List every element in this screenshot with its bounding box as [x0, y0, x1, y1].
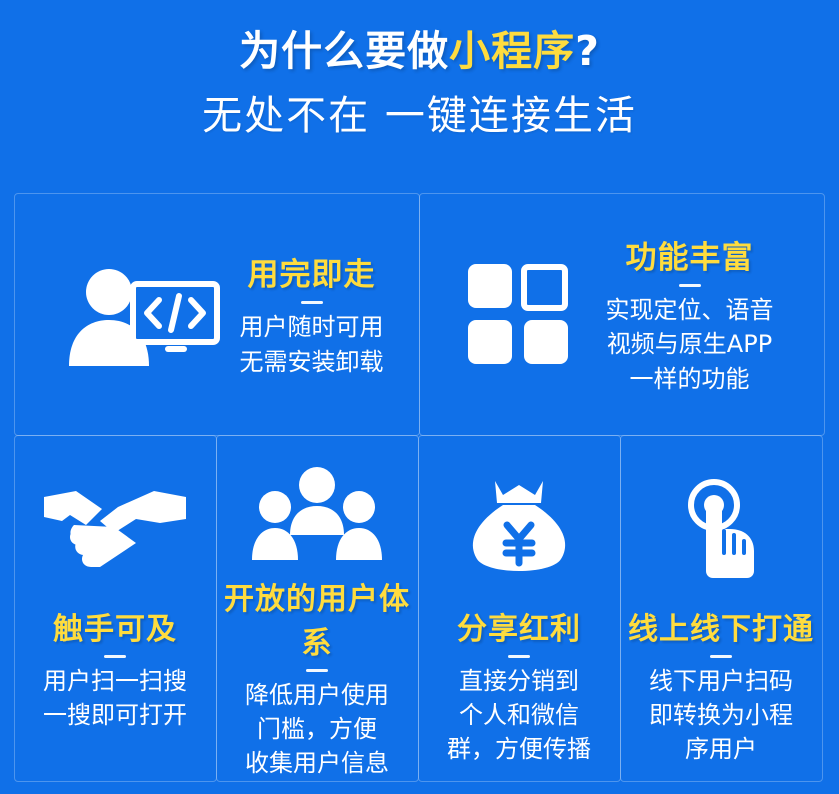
feature-grid: 用完即走 用户随时可用 无需安装卸载: [14, 193, 826, 781]
feature-card-heading: 开放的用户体系: [223, 574, 412, 662]
feature-card-chu-shou-ke-ji[interactable]: 触手可及 用户扫一扫搜 一搜即可打开: [14, 435, 217, 782]
feature-card-body: 直接分销到 个人和微信 群，方便传播: [447, 664, 591, 766]
feature-card-heading: 触手可及: [43, 604, 187, 648]
feature-card-line: 降低用户使用: [223, 678, 412, 712]
feature-card-body: 降低用户使用 门槛，方便 收集用户信息: [223, 678, 412, 780]
feature-card-line: 直接分销到: [447, 664, 591, 698]
feature-card-line: 门槛，方便: [223, 712, 412, 746]
feature-card-line: 收集用户信息: [223, 746, 412, 780]
feature-card-body: 用户扫一扫搜 一搜即可打开: [43, 664, 187, 732]
feature-card-line: 视频与原生APP: [578, 327, 802, 361]
header: 为什么要做小程序? 无处不在 一键连接生活: [0, 0, 839, 141]
divider-rule: [679, 284, 701, 287]
feature-card-line: 无需安装卸载: [227, 345, 397, 379]
divider-rule: [104, 655, 126, 658]
feature-card-line: 实现定位、语音: [578, 293, 802, 327]
divider-rule: [508, 655, 530, 658]
feature-card-fen-xiang-hong-li[interactable]: 分享红利 直接分销到 个人和微信 群，方便传播: [418, 435, 621, 782]
feature-card-kai-fang-de-yong-hu-ti-xi[interactable]: 开放的用户体系 降低用户使用 门槛，方便 收集用户信息: [216, 435, 419, 782]
tap-hand-icon: [666, 454, 776, 604]
divider-rule: [301, 301, 323, 304]
title-text-part-1: 为什么要做: [239, 27, 449, 75]
feature-card-line: 线下用户扫码: [628, 664, 814, 698]
title-text-part-2: ?: [575, 27, 600, 75]
feature-card-body: 线下用户扫码 即转换为小程 序用户: [628, 664, 814, 766]
feature-card-line: 一样的功能: [578, 362, 802, 396]
feature-row-bottom: 触手可及 用户扫一扫搜 一搜即可打开: [14, 435, 826, 781]
feature-card-line: 序用户: [628, 732, 814, 766]
feature-row-top: 用完即走 用户随时可用 无需安装卸载: [14, 193, 826, 435]
feature-card-yong-wan-ji-zou[interactable]: 用完即走 用户随时可用 无需安装卸载: [14, 193, 420, 436]
feature-card-xian-shang-xian-xia-da-tong[interactable]: 线上线下打通 线下用户扫码 即转换为小程 序用户: [620, 435, 823, 782]
feature-card-line: 即转换为小程: [628, 698, 814, 732]
feature-card-line: 用户扫一扫搜: [43, 664, 187, 698]
page-title: 为什么要做小程序?: [0, 26, 839, 77]
feature-card-gong-neng-feng-fu[interactable]: 功能丰富 实现定位、语音 视频与原生APP 一样的功能: [419, 193, 825, 436]
feature-card-text: 开放的用户体系 降低用户使用 门槛，方便 收集用户信息: [217, 574, 418, 780]
feature-card-text: 分享红利 直接分销到 个人和微信 群，方便传播: [441, 604, 597, 766]
feature-card-text: 触手可及 用户扫一扫搜 一搜即可打开: [37, 604, 193, 732]
feature-card-body: 用户随时可用 无需安装卸载: [227, 310, 397, 378]
feature-card-line: 群，方便传播: [447, 732, 591, 766]
feature-card-text: 功能丰富 实现定位、语音 视频与原生APP 一样的功能: [578, 232, 824, 395]
feature-card-text: 用完即走 用户随时可用 无需安装卸载: [227, 249, 419, 378]
handshake-icon: [40, 454, 190, 604]
grid-squares-icon: [458, 262, 578, 366]
feature-card-heading: 功能丰富: [578, 232, 802, 277]
page-subtitle: 无处不在 一键连接生活: [0, 91, 839, 141]
feature-card-heading: 线上线下打通: [628, 604, 814, 648]
feature-card-line: 一搜即可打开: [43, 698, 187, 732]
feature-card-line: 个人和微信: [447, 698, 591, 732]
feature-card-heading: 用完即走: [227, 249, 397, 294]
divider-rule: [306, 669, 328, 672]
title-highlight: 小程序: [449, 27, 575, 75]
poster-root: 为什么要做小程序? 无处不在 一键连接生活: [0, 0, 839, 794]
feature-card-heading: 分享红利: [447, 604, 591, 648]
feature-card-body: 实现定位、语音 视频与原生APP 一样的功能: [578, 293, 802, 395]
divider-rule: [710, 655, 732, 658]
money-bag-yuan-icon: [459, 454, 579, 604]
feature-card-line: 用户随时可用: [227, 310, 397, 344]
feature-card-text: 线上线下打通 线下用户扫码 即转换为小程 序用户: [622, 604, 820, 766]
person-monitor-code-icon: [57, 262, 227, 366]
people-group-icon: [250, 454, 384, 575]
